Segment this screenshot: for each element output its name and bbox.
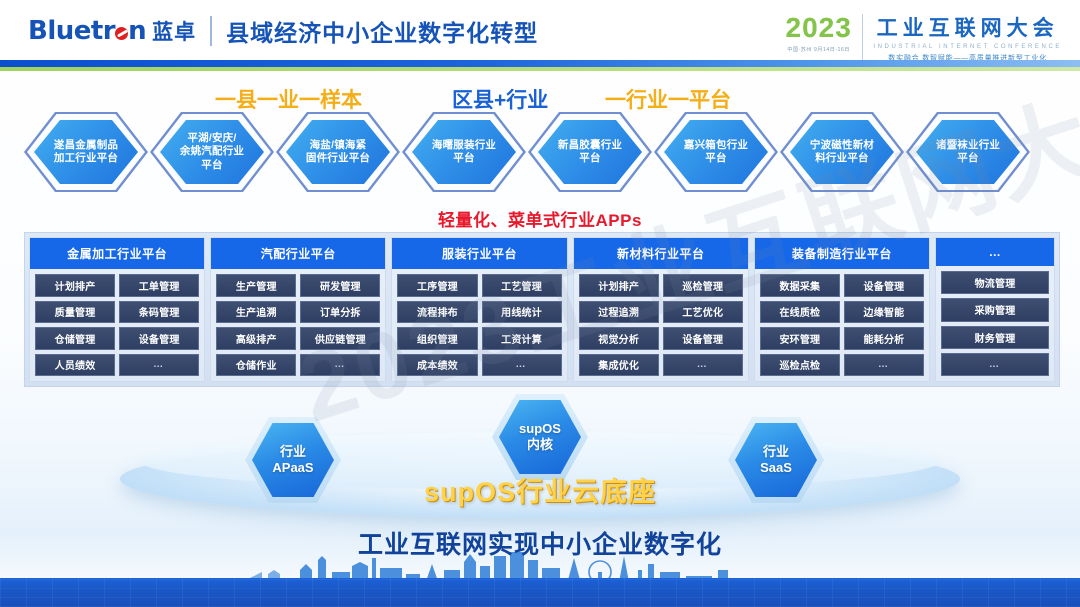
app-tile[interactable]: … [300,354,380,377]
conference-divider [862,14,864,63]
hexagon-label: 宁波磁性新材料行业平台 [804,139,880,165]
slide-root: 2023工业互联网大会 Bluetrn 蓝卓 县域经济中小企业数字化转型 202… [0,0,1080,607]
app-tile[interactable]: 设备管理 [663,327,743,350]
app-tile[interactable]: 边缘智能 [844,301,924,324]
app-tile[interactable]: 能耗分析 [844,327,924,350]
base-hexagon-1[interactable]: supOS内核 [492,394,588,480]
conference-name-cn: 工业互联网大会 [873,12,1062,42]
app-tile[interactable]: 在线质检 [760,301,840,324]
apps-column-header-2[interactable]: 服装行业平台 [392,238,566,269]
apps-column-body-4: 数据采集设备管理在线质检边缘智能安环管理能耗分析巡检点检… [755,269,929,381]
section-labels: 一县一业一样本区县+行业一行业一平台 [0,84,1080,112]
app-tile[interactable]: 研发管理 [300,274,380,297]
apps-column-0: 金属加工行业平台计划排产工单管理质量管理条码管理仓储管理设备管理人员绩效… [29,237,205,382]
conference-date: 中国·苏州 9月14日-16日 [786,46,852,53]
conference-year-block: 2023 中国·苏州 9月14日-16日 [786,12,862,53]
brand-divider [210,16,212,46]
app-tile[interactable]: 成本绩效 [397,354,477,377]
hexagon-platform-4[interactable]: 新昌胶囊行业平台 [528,112,652,192]
apps-column-header-0[interactable]: 金属加工行业平台 [30,238,204,269]
app-tile[interactable]: 财务管理 [941,326,1049,349]
hexagon-platform-7[interactable]: 诸暨袜业行业平台 [906,112,1030,192]
app-tile[interactable]: 巡检管理 [663,274,743,297]
apps-column-header-4[interactable]: 装备制造行业平台 [755,238,929,269]
app-tile[interactable]: … [941,353,1049,376]
apps-column-header-3[interactable]: 新材料行业平台 [574,238,748,269]
apps-column-1: 汽配行业平台生产管理研发管理生产追溯订单分拆高级排产供应链管理仓储作业… [210,237,386,382]
brand-lockup: Bluetrn 蓝卓 县域经济中小企业数字化转型 [28,14,538,48]
apps-column-header-1[interactable]: 汽配行业平台 [211,238,385,269]
slide-header: Bluetrn 蓝卓 县域经济中小企业数字化转型 2023 中国·苏州 9月14… [0,0,1080,60]
hexagon-platform-5[interactable]: 嘉兴箱包行业平台 [654,112,778,192]
app-tile[interactable]: 条码管理 [119,301,199,324]
apps-column-body-5: 物流管理采购管理财务管理… [936,266,1054,381]
app-tile[interactable]: 计划排产 [35,274,115,297]
hexagon-label: 平湖/安庆/余姚汽配行业平台 [174,132,250,171]
hexagon-platform-1[interactable]: 平湖/安庆/余姚汽配行业平台 [150,112,274,192]
app-tile[interactable]: 视觉分析 [579,327,659,350]
industry-apps-panel: 金属加工行业平台计划排产工单管理质量管理条码管理仓储管理设备管理人员绩效…汽配行… [24,232,1060,387]
apps-column-body-0: 计划排产工单管理质量管理条码管理仓储管理设备管理人员绩效… [30,269,204,381]
app-tile[interactable]: … [844,354,924,377]
app-tile[interactable]: 巡检点检 [760,354,840,377]
apps-column-2: 服装行业平台工序管理工艺管理流程排布用线统计组织管理工资计算成本绩效… [391,237,567,382]
hexagon-label: 海曙服装行业平台 [426,139,502,165]
apps-column-body-3: 计划排产巡检管理过程追溯工艺优化视觉分析设备管理集成优化… [574,269,748,381]
app-tile[interactable]: … [663,354,743,377]
apps-column-body-2: 工序管理工艺管理流程排布用线统计组织管理工资计算成本绩效… [392,269,566,381]
apps-column-4: 装备制造行业平台数据采集设备管理在线质检边缘智能安环管理能耗分析巡检点检… [754,237,930,382]
app-tile[interactable]: 质量管理 [35,301,115,324]
brand-name-cn: 蓝卓 [152,16,196,46]
platform-hexagon-row: 遂昌金属制品加工行业平台平湖/安庆/余姚汽配行业平台海盐/镇海紧固件行业平台海曙… [0,112,1080,192]
app-tile[interactable]: 工序管理 [397,274,477,297]
app-tile[interactable]: 计划排产 [579,274,659,297]
app-tile[interactable]: 生产追溯 [216,301,296,324]
hexagon-platform-2[interactable]: 海盐/镇海紧固件行业平台 [276,112,400,192]
apps-column-body-1: 生产管理研发管理生产追溯订单分拆高级排产供应链管理仓储作业… [211,269,385,381]
app-tile[interactable]: 物流管理 [941,271,1049,294]
app-tile[interactable]: 工艺优化 [663,301,743,324]
hexagon-platform-6[interactable]: 宁波磁性新材料行业平台 [780,112,904,192]
app-tile[interactable]: 高级排产 [216,327,296,350]
app-tile[interactable]: … [482,354,562,377]
supos-base-section: 行业APaaSsupOS内核行业SaaS supOS行业云底座 [0,392,1080,522]
base-hexagon-label: supOS内核 [519,421,561,454]
app-tile[interactable]: 流程排布 [397,301,477,324]
app-tile[interactable]: 设备管理 [844,274,924,297]
app-tile[interactable]: 工资计算 [482,327,562,350]
app-tile[interactable]: 组织管理 [397,327,477,350]
app-tile[interactable]: 设备管理 [119,327,199,350]
section-label-1: 区县+行业 [452,84,548,114]
app-tile[interactable]: 订单分拆 [300,301,380,324]
conference-year: 2023 [786,12,852,44]
conference-name-block: 工业互联网大会 INDUSTRIAL INTERNET CONFERENCE 数… [873,12,1062,63]
supos-base-title: supOS行业云底座 [0,470,1080,509]
app-tile[interactable]: … [119,354,199,377]
app-tile[interactable]: 人员绩效 [35,354,115,377]
section-label-0: 一县一业一样本 [215,84,362,114]
hexagon-label: 嘉兴箱包行业平台 [678,139,754,165]
app-tile[interactable]: 生产管理 [216,274,296,297]
page-title: 县域经济中小企业数字化转型 [226,14,538,48]
hexagon-label: 海盐/镇海紧固件行业平台 [300,139,376,165]
logo-dot-icon [115,27,128,40]
hexagon-label: 诸暨袜业行业平台 [930,139,1006,165]
section-label-2: 一行业一平台 [605,84,731,114]
app-tile[interactable]: 采购管理 [941,298,1049,321]
apps-column-header-5[interactable]: … [936,238,1054,266]
conference-logo: 2023 中国·苏州 9月14日-16日 工业互联网大会 INDUSTRIAL … [786,12,1062,63]
hexagon-label: 新昌胶囊行业平台 [552,139,628,165]
bottom-title: 工业互联网实现中小企业数字化 [0,525,1080,561]
app-tile[interactable]: 用线统计 [482,301,562,324]
header-rule-blue [0,60,1080,67]
app-tile[interactable]: 仓储作业 [216,354,296,377]
app-tile[interactable]: 安环管理 [760,327,840,350]
hexagon-label: 遂昌金属制品加工行业平台 [48,139,124,165]
bluetron-logo: Bluetrn [28,16,146,46]
apps-column-5: …物流管理采购管理财务管理… [935,237,1055,382]
app-tile[interactable]: 工单管理 [119,274,199,297]
app-tile[interactable]: 集成优化 [579,354,659,377]
app-tile[interactable]: 仓储管理 [35,327,115,350]
conference-name-en: INDUSTRIAL INTERNET CONFERENCE [873,44,1062,50]
header-rule-green [0,67,1080,71]
app-tile[interactable]: 工艺管理 [482,274,562,297]
hexagon-platform-0[interactable]: 遂昌金属制品加工行业平台 [24,112,148,192]
app-tile[interactable]: 过程追溯 [579,301,659,324]
apps-column-3: 新材料行业平台计划排产巡检管理过程追溯工艺优化视觉分析设备管理集成优化… [573,237,749,382]
bottom-gradient-band [0,578,1080,607]
hexagon-platform-3[interactable]: 海曙服装行业平台 [402,112,526,192]
app-tile[interactable]: 供应链管理 [300,327,380,350]
app-tile[interactable]: 数据采集 [760,274,840,297]
apps-section-title: 轻量化、菜单式行业APPs [0,206,1080,231]
